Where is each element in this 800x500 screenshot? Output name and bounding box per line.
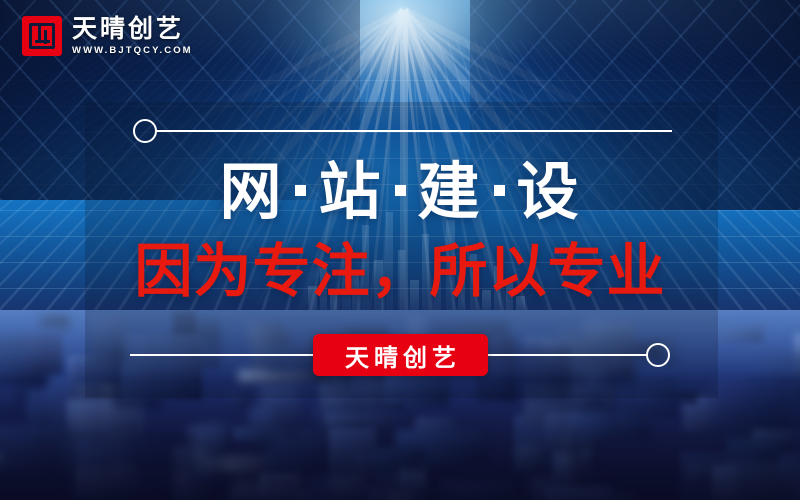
promo-banner: 天晴创艺 WWW.BJTQCY.COM 网站建设 因为专注，所以专业 天晴创艺 <box>0 0 800 500</box>
headline-char: 设 <box>517 158 581 227</box>
headline-char: 网 <box>219 158 283 227</box>
headline-separator-icon <box>395 185 406 196</box>
top-divider-rule <box>155 130 672 132</box>
headline-text: 网站建设 <box>0 162 800 224</box>
logo-text-block: 天晴创艺 WWW.BJTQCY.COM <box>72 16 193 56</box>
logo-company-name: 天晴创艺 <box>72 16 193 42</box>
logo-website-url: WWW.BJTQCY.COM <box>72 45 193 56</box>
decor-ring-right-icon <box>646 343 670 367</box>
brand-badge-label: 天晴创艺 <box>340 338 461 373</box>
headline-char: 站 <box>318 158 382 227</box>
headline-separator-icon <box>295 185 306 196</box>
logo-mark-icon <box>22 16 62 56</box>
headline-separator-icon <box>494 185 505 196</box>
brand-badge[interactable]: 天晴创艺 <box>313 334 488 376</box>
decor-ring-left-icon <box>133 119 157 143</box>
subheadline-text: 因为专注，所以专业 <box>0 243 800 301</box>
brand-logo[interactable]: 天晴创艺 WWW.BJTQCY.COM <box>22 16 193 56</box>
bottom-divider-rule-left <box>130 354 313 356</box>
headline-char: 建 <box>418 158 482 227</box>
bottom-divider-rule-right <box>487 354 648 356</box>
